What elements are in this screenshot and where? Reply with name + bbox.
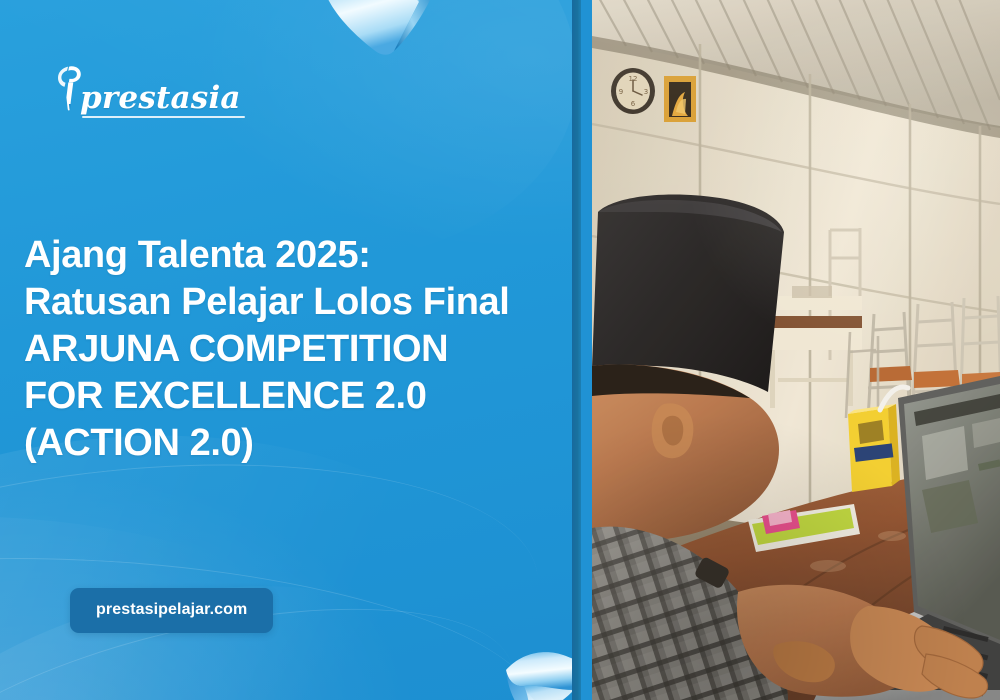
website-url-badge[interactable]: prestasipelajar.com bbox=[70, 588, 273, 633]
panel-divider-dark bbox=[572, 0, 581, 700]
page-title-line: ARJUNA COMPETITION bbox=[24, 326, 569, 373]
page-title-line: (ACTION 2.0) bbox=[24, 420, 569, 467]
page-title-line: Ratusan Pelajar Lolos Final bbox=[24, 279, 569, 326]
page-title-line: Ajang Talenta 2025: bbox=[24, 232, 569, 279]
article-card: prestasia Ajang Talenta 2025: Ratusan Pe… bbox=[0, 0, 1000, 700]
wave-swoosh-icon bbox=[0, 427, 553, 700]
brand-logo[interactable]: prestasia bbox=[58, 62, 241, 114]
page-title: Ajang Talenta 2025: Ratusan Pelajar Lolo… bbox=[24, 232, 569, 467]
left-blue-panel: prestasia Ajang Talenta 2025: Ratusan Pe… bbox=[0, 0, 572, 700]
article-photo: 123 69 bbox=[592, 0, 1000, 700]
brand-logo-text: prestasia bbox=[80, 83, 241, 114]
panel-divider-light bbox=[581, 0, 592, 700]
page-title-line: FOR EXCELLENCE 2.0 bbox=[24, 373, 569, 420]
